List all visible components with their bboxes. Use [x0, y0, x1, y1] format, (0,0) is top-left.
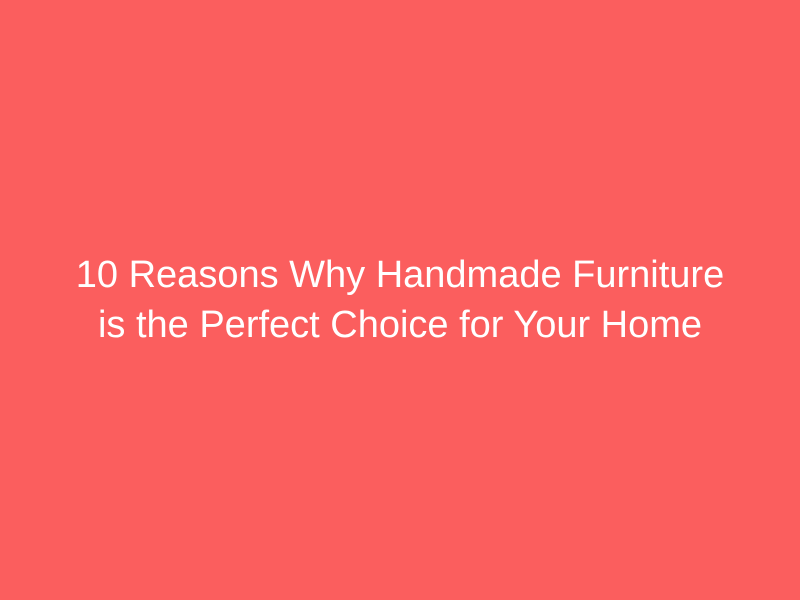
page-title: 10 Reasons Why Handmade Furniture is the…	[60, 250, 740, 350]
title-block: 10 Reasons Why Handmade Furniture is the…	[60, 250, 740, 350]
title-card: 10 Reasons Why Handmade Furniture is the…	[0, 0, 800, 600]
